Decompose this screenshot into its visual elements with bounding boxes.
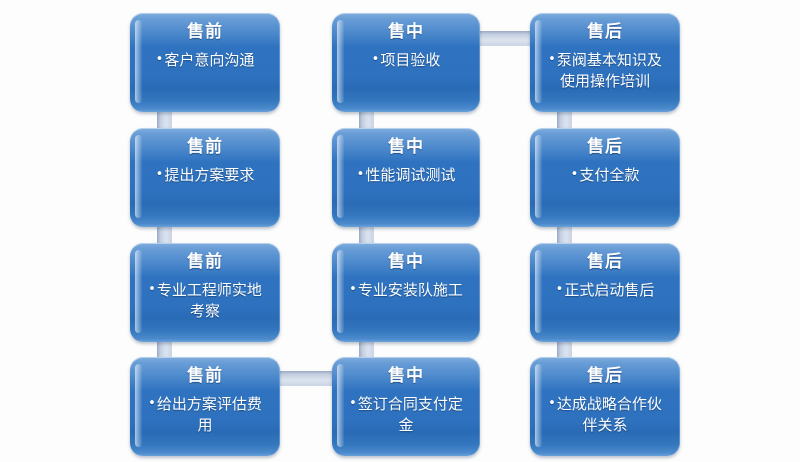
node-r3c3[interactable]: 售后 •正式启动售后 [530,243,680,342]
bullet-icon: • [548,52,556,67]
node-r3c1[interactable]: 售前 •专业工程师实地考察 [130,243,280,342]
node-body: •客户意向沟通 [156,50,255,70]
bullet-icon: • [571,167,579,182]
node-title: 售前 [187,252,223,273]
node-title: 售前 [187,137,223,158]
node-body-text: 性能调试测试 [365,166,455,184]
node-r2c2[interactable]: 售中 •性能调试测试 [332,128,480,227]
node-body: •签订合同支付定金 [344,394,468,435]
node-body-text: 签订合同支付定金 [358,395,463,433]
node-r1c2[interactable]: 售中 •项目验收 [332,13,480,112]
bullet-icon: • [156,167,164,182]
node-title: 售中 [388,252,424,273]
node-title: 售前 [187,366,223,387]
node-title: 售后 [587,137,623,158]
node-body: •性能调试测试 [357,165,456,185]
bullet-icon: • [372,52,380,67]
node-title: 售中 [388,366,424,387]
node-body-text: 客户意向沟通 [164,51,254,69]
node-body-text: 给出方案评估费用 [157,395,262,433]
node-body-text: 正式启动售后 [564,281,654,299]
bullet-icon: • [548,396,556,411]
node-title: 售中 [388,137,424,158]
bullet-icon: • [349,282,357,297]
node-body-text: 专业工程师实地考察 [157,281,262,319]
node-body-text: 达成战略合作伙伴关系 [557,395,662,433]
node-body: •支付全款 [571,165,640,185]
node-body-text: 支付全款 [579,166,639,184]
node-body: •项目验收 [372,50,441,70]
bullet-icon: • [148,396,156,411]
node-r2c3[interactable]: 售后 •支付全款 [530,128,680,227]
node-title: 售后 [587,252,623,273]
node-body: •给出方案评估费用 [142,394,268,435]
node-body: •提出方案要求 [156,165,255,185]
node-r3c2[interactable]: 售中 •专业安装队施工 [332,243,480,342]
node-body: •达成战略合作伙伴关系 [542,394,668,435]
node-body-text: 专业安装队施工 [358,281,463,299]
node-r4c1[interactable]: 售前 •给出方案评估费用 [130,357,280,456]
node-body: •专业工程师实地考察 [142,280,268,321]
bullet-icon: • [357,167,365,182]
bullet-icon: • [148,282,156,297]
node-title: 售前 [187,22,223,43]
node-r4c3[interactable]: 售后 •达成战略合作伙伴关系 [530,357,680,456]
node-title: 售中 [388,22,424,43]
flowchart-canvas: 售前 •客户意向沟通 售中 •项目验收 售后 •泵阀基本知识及使用操作培训 售前… [0,0,800,462]
bullet-icon: • [556,282,564,297]
node-r4c2[interactable]: 售中 •签订合同支付定金 [332,357,480,456]
node-body-text: 泵阀基本知识及使用操作培训 [557,51,662,89]
node-body: •泵阀基本知识及使用操作培训 [542,50,668,91]
node-r1c3[interactable]: 售后 •泵阀基本知识及使用操作培训 [530,13,680,112]
node-r1c1[interactable]: 售前 •客户意向沟通 [130,13,280,112]
node-body-text: 项目验收 [380,51,440,69]
node-body: •正式启动售后 [556,280,655,300]
node-title: 售后 [587,22,623,43]
node-body-text: 提出方案要求 [164,166,254,184]
node-body: •专业安装队施工 [349,280,463,300]
bullet-icon: • [156,52,164,67]
node-r2c1[interactable]: 售前 •提出方案要求 [130,128,280,227]
bullet-icon: • [349,396,357,411]
node-title: 售后 [587,366,623,387]
